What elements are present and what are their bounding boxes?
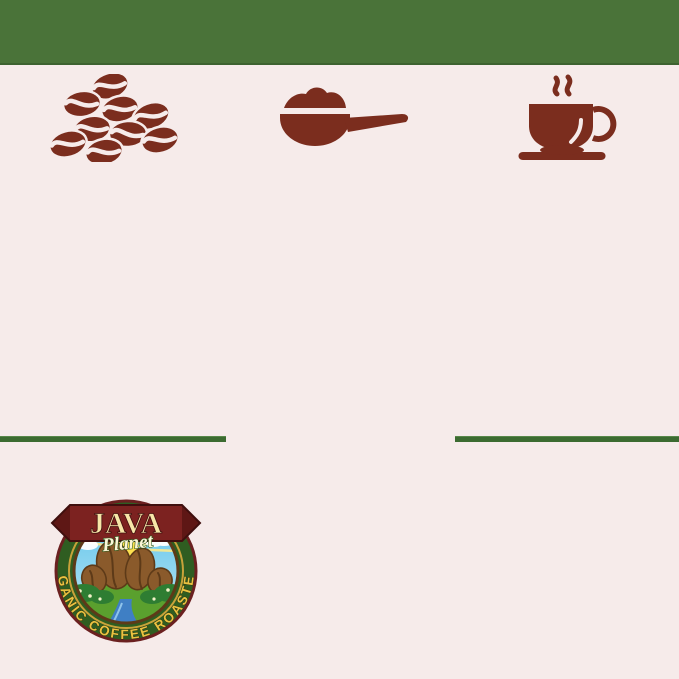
coffee-beans-icon: [48, 74, 178, 162]
step-brew: [453, 74, 679, 177]
steps-row: [0, 74, 679, 177]
coffee-tips-header: [0, 422, 679, 456]
list-item: [252, 566, 672, 610]
header-bar: [0, 0, 679, 65]
step-grind: [0, 74, 226, 177]
step-measure: [227, 74, 453, 177]
divider-left: [0, 436, 226, 442]
coffee-tips-list: [252, 478, 672, 654]
java-planet-logo: JAVA Planet ORGANIC COFFEE ROASTERS: [36, 483, 216, 648]
measuring-spoon-icon: [260, 74, 420, 162]
list-item: [252, 478, 672, 522]
divider-right: [455, 436, 679, 442]
list-item: [252, 522, 672, 566]
list-item: [252, 610, 672, 654]
infographic-page: JAVA Planet ORGANIC COFFEE ROASTERS: [0, 0, 679, 679]
coffee-cup-icon: [501, 74, 631, 162]
